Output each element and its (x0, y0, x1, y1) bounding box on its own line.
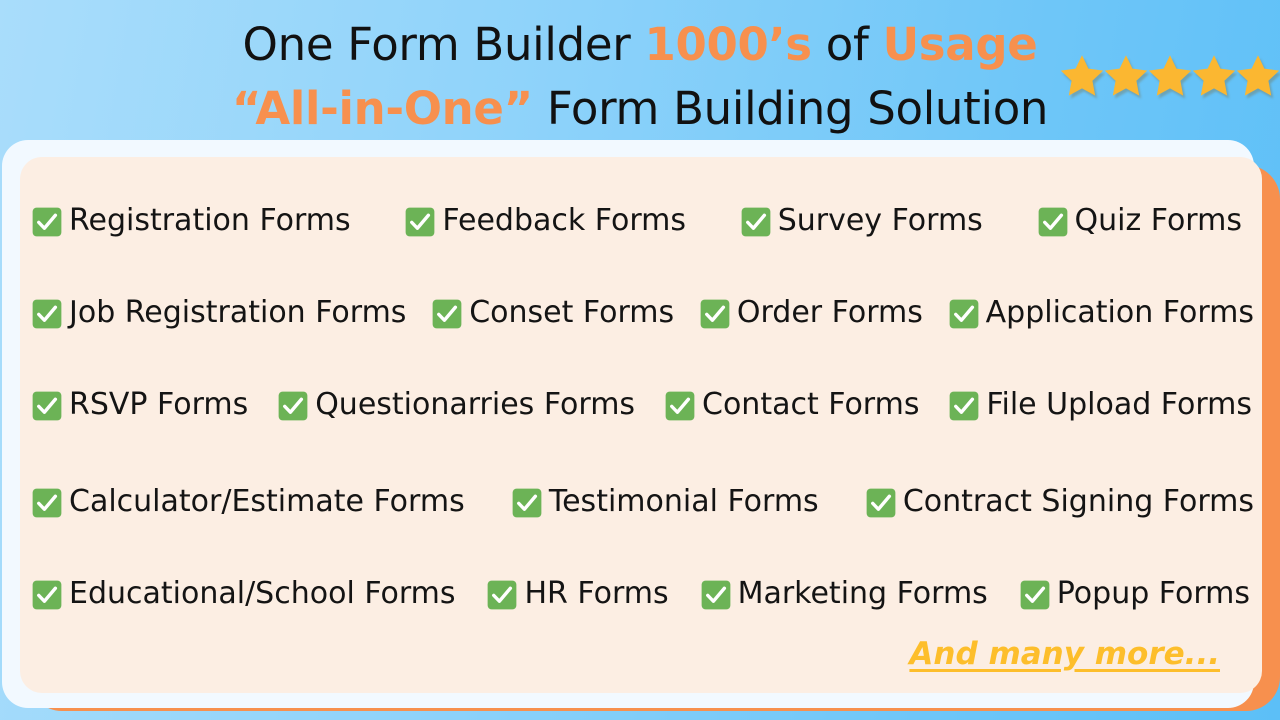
feature-item-label: Marketing Forms (738, 576, 988, 612)
feature-item[interactable]: Questionarries Forms (278, 387, 635, 423)
feature-item-label: Questionarries Forms (315, 387, 635, 423)
headline-segment-all-in-one: “All-in-One” (232, 82, 533, 135)
feature-row: RSVP FormsQuestionarries FormsContact Fo… (20, 377, 1262, 433)
check-square-icon (487, 579, 524, 609)
check-square-icon (949, 298, 986, 328)
check-square-icon (32, 579, 69, 609)
feature-item-label: Application Forms (986, 295, 1254, 331)
feature-row: Registration FormsFeedback FormsSurvey F… (20, 193, 1262, 249)
feature-row: Educational/School FormsHR FormsMarketin… (20, 566, 1262, 622)
check-square-icon (278, 390, 315, 420)
feature-item-label: Quiz Forms (1075, 203, 1242, 239)
feature-item[interactable]: Registration Forms (32, 203, 351, 239)
star-icon (1190, 52, 1234, 100)
feature-item[interactable]: Marketing Forms (701, 576, 988, 612)
feature-item[interactable]: Job Registration Forms (32, 295, 406, 331)
feature-item[interactable]: Application Forms (949, 295, 1254, 331)
feature-item-label: HR Forms (524, 576, 668, 612)
feature-item-label: Educational/School Forms (69, 576, 456, 612)
feature-list: Registration FormsFeedback FormsSurvey F… (20, 157, 1262, 693)
star-icon (1102, 52, 1146, 100)
check-square-icon (512, 487, 549, 517)
feature-item-label: RSVP Forms (69, 387, 248, 423)
feature-item[interactable]: HR Forms (487, 576, 668, 612)
feature-item[interactable]: Testimonial Forms (512, 484, 819, 520)
feature-item-label: Job Registration Forms (69, 295, 406, 331)
check-square-icon (32, 487, 69, 517)
headline-segment-usage: Usage (883, 18, 1038, 71)
feature-row: Calculator/Estimate FormsTestimonial For… (20, 474, 1262, 530)
feature-item[interactable]: Feedback Forms (405, 203, 686, 239)
feature-item[interactable]: Calculator/Estimate Forms (32, 484, 465, 520)
check-square-icon (949, 390, 986, 420)
feature-item-label: Registration Forms (69, 203, 351, 239)
check-square-icon (1038, 206, 1075, 236)
feature-item[interactable]: Popup Forms (1020, 576, 1250, 612)
feature-item[interactable]: Conset Forms (432, 295, 674, 331)
headline-segment-of: of (812, 18, 883, 71)
feature-item-label: Contract Signing Forms (903, 484, 1254, 520)
feature-item[interactable]: Contract Signing Forms (866, 484, 1254, 520)
feature-item-label: Survey Forms (778, 203, 983, 239)
headline-segment-one-form-builder: One Form Builder (242, 18, 644, 71)
feature-item[interactable]: Educational/School Forms (32, 576, 456, 612)
star-icon (1234, 52, 1278, 100)
check-square-icon (866, 487, 903, 517)
check-square-icon (665, 390, 702, 420)
feature-item[interactable]: Contact Forms (665, 387, 919, 423)
headline-segment-form-building-solution: Form Building Solution (533, 82, 1048, 135)
star-icon (1058, 52, 1102, 100)
check-square-icon (1020, 579, 1057, 609)
header: One Form Builder 1000’s of Usage “All-in… (0, 0, 1280, 142)
feature-row: Job Registration FormsConset FormsOrder … (20, 285, 1262, 341)
star-icon (1146, 52, 1190, 100)
check-square-icon (32, 390, 69, 420)
feature-item[interactable]: Quiz Forms (1038, 203, 1242, 239)
feature-item[interactable]: RSVP Forms (32, 387, 248, 423)
check-square-icon (701, 579, 738, 609)
check-square-icon (405, 206, 442, 236)
check-square-icon (32, 298, 69, 328)
check-square-icon (432, 298, 469, 328)
feature-item-label: Feedback Forms (442, 203, 686, 239)
rating-stars (1058, 52, 1278, 100)
feature-item[interactable]: File Upload Forms (949, 387, 1252, 423)
feature-item-label: Contact Forms (702, 387, 919, 423)
check-square-icon (741, 206, 778, 236)
feature-item-label: Testimonial Forms (549, 484, 819, 520)
and-many-more-link[interactable]: And many more... (909, 636, 1220, 672)
check-square-icon (32, 206, 69, 236)
feature-item-label: File Upload Forms (986, 387, 1252, 423)
feature-item[interactable]: Order Forms (700, 295, 923, 331)
check-square-icon (700, 298, 737, 328)
headline-segment-1000s: 1000’s (644, 18, 811, 71)
feature-item-label: Order Forms (737, 295, 923, 331)
feature-item-label: Calculator/Estimate Forms (69, 484, 465, 520)
promo-graphic: One Form Builder 1000’s of Usage “All-in… (0, 0, 1280, 720)
feature-item-label: Conset Forms (469, 295, 674, 331)
feature-item-label: Popup Forms (1057, 576, 1250, 612)
feature-item[interactable]: Survey Forms (741, 203, 983, 239)
